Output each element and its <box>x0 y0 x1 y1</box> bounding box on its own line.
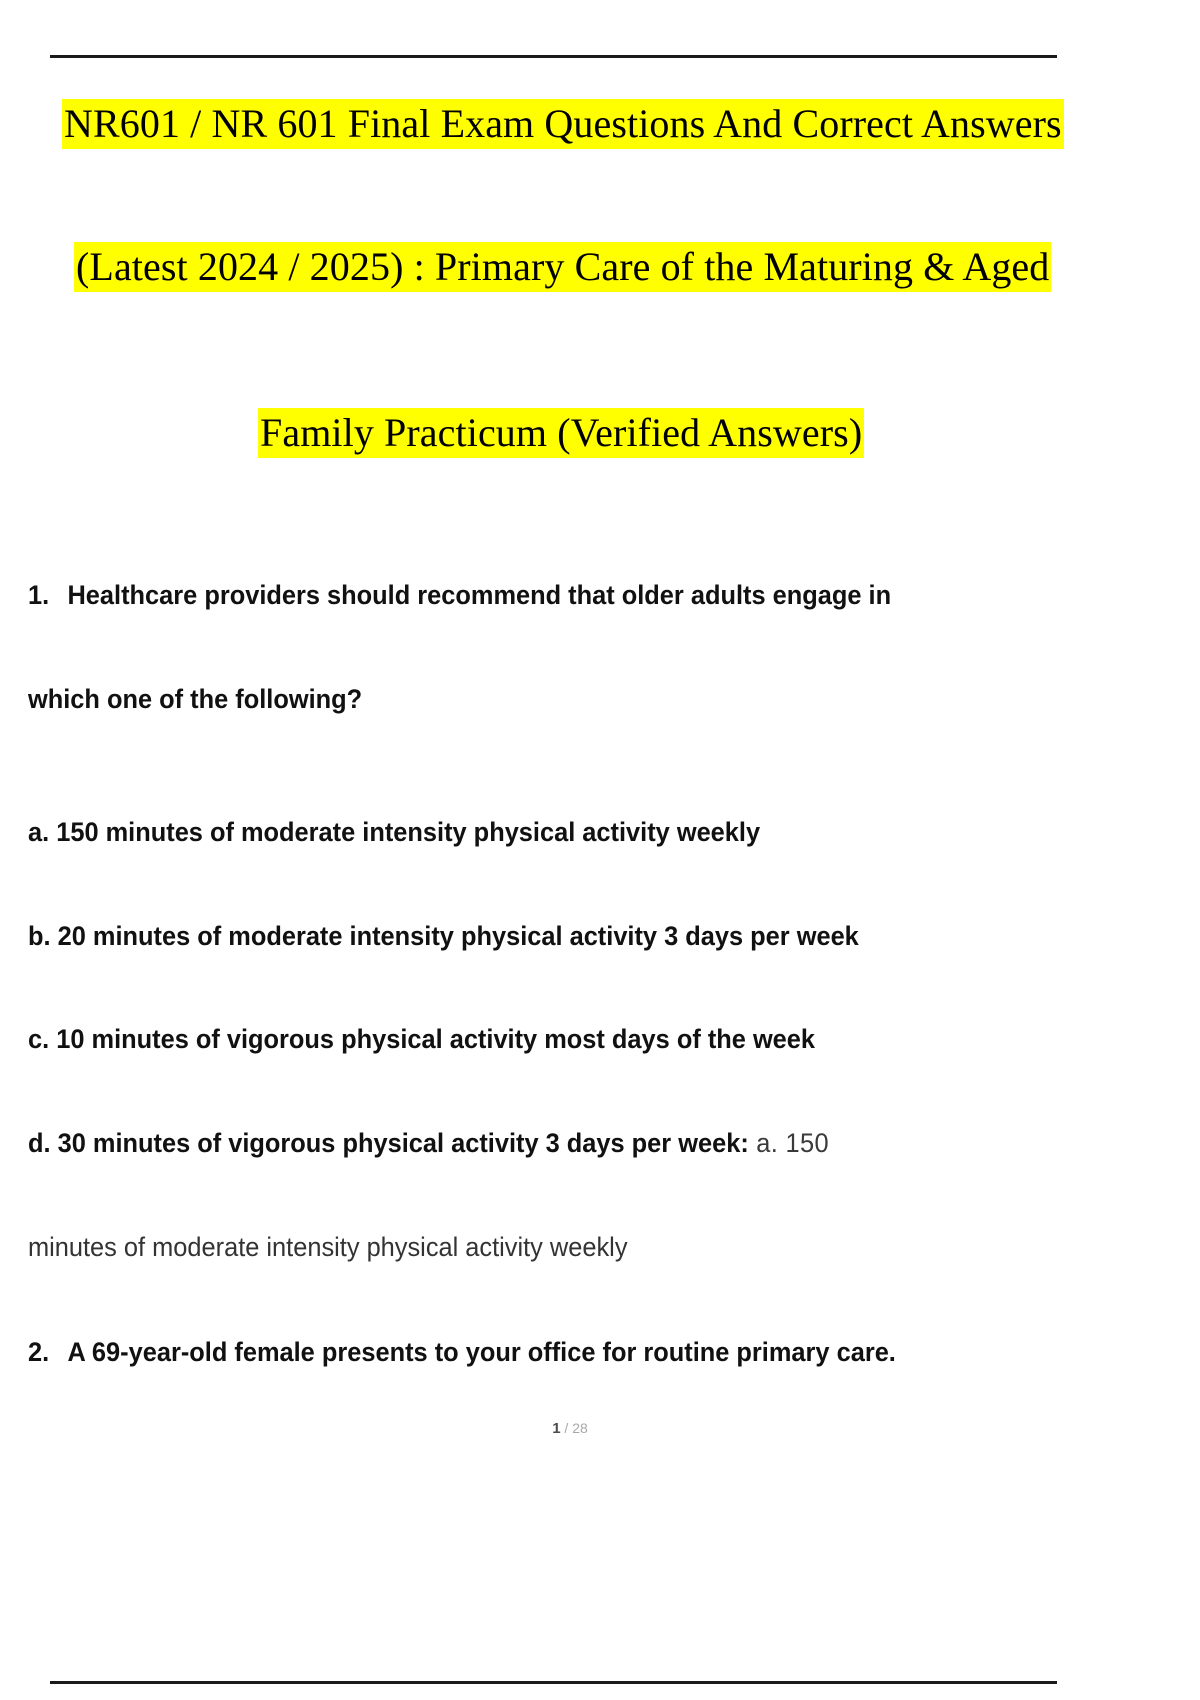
current-page-number: 1 <box>552 1420 560 1437</box>
option-a-label: a. 150 minutes of moderate intensity phy… <box>28 817 760 847</box>
question-2-stem-text-1: A 69-year-old female presents to your of… <box>67 1337 895 1367</box>
question-1-answer-inline <box>749 1128 756 1158</box>
question-1-stem-text-1: Healthcare providers should recommend th… <box>67 580 891 610</box>
document-title-line-1: NR601 / NR 601 Final Exam Questions And … <box>62 100 1064 147</box>
question-1-option-a: a. 150 minutes of moderate intensity phy… <box>28 817 760 848</box>
question-1-stem-line-1: 1.Healthcare providers should recommend … <box>28 580 891 611</box>
question-2-stem-line-1: 2.A 69-year-old female presents to your … <box>28 1337 896 1368</box>
page-bottom-rule <box>50 1681 1057 1684</box>
option-d-label: d. 30 minutes of vigorous physical activ… <box>28 1128 749 1158</box>
page-indicator: 1 / 28 <box>0 1420 1140 1437</box>
question-2-number: 2. <box>28 1337 67 1368</box>
page-top-rule <box>50 55 1057 58</box>
document-title-line-3: Family Practicum (Verified Answers) <box>258 409 864 456</box>
title-highlight-2: (Latest 2024 / 2025) : Primary Care of t… <box>74 242 1051 292</box>
document-page: NR601 / NR 601 Final Exam Questions And … <box>0 0 1200 1700</box>
question-1-option-b: b. 20 minutes of moderate intensity phys… <box>28 921 859 952</box>
question-1-stem-line-2: which one of the following? <box>28 684 362 715</box>
question-1-option-c: c. 10 minutes of vigorous physical activ… <box>28 1024 815 1055</box>
question-1-stem-text-2: which one of the following? <box>28 684 362 714</box>
question-1-answer-inline-text: a. 150 <box>756 1128 829 1158</box>
option-b-label: b. 20 minutes of moderate intensity phys… <box>28 921 859 951</box>
question-1-answer-continuation-text: minutes of moderate intensity physical a… <box>28 1232 628 1262</box>
option-c-label: c. 10 minutes of vigorous physical activ… <box>28 1024 815 1054</box>
question-1-option-d: d. 30 minutes of vigorous physical activ… <box>28 1128 829 1159</box>
title-highlight-3: Family Practicum (Verified Answers) <box>258 408 864 458</box>
question-1-answer-continuation: minutes of moderate intensity physical a… <box>28 1232 628 1263</box>
question-1-number: 1. <box>28 580 67 611</box>
title-highlight-1: NR601 / NR 601 Final Exam Questions And … <box>62 99 1064 149</box>
document-title-line-2: (Latest 2024 / 2025) : Primary Care of t… <box>74 243 1051 290</box>
total-page-count: 28 <box>572 1420 588 1436</box>
page-separator: / <box>561 1420 573 1436</box>
